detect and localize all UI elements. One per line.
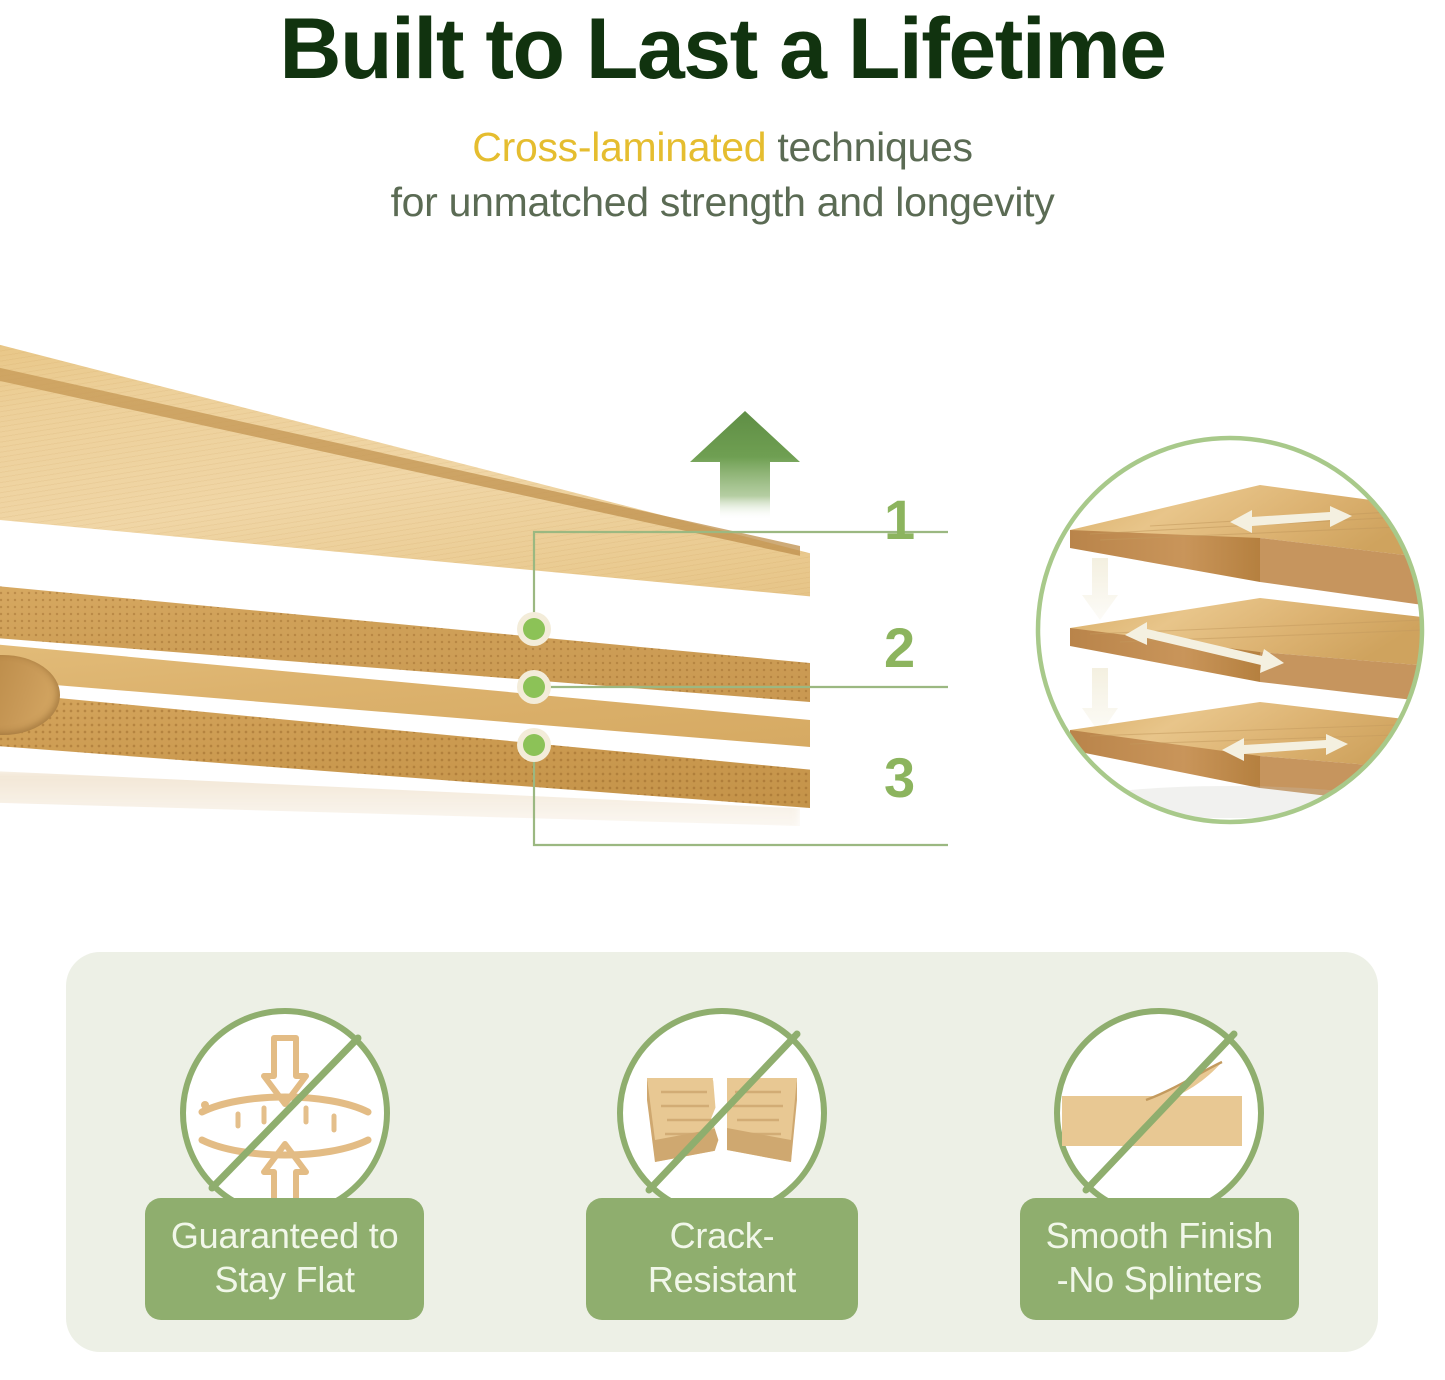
cross-laminated-inset (1030, 430, 1430, 830)
header: Built to Last a Lifetime Cross-laminated… (0, 0, 1445, 229)
subtitle-line-1: Cross-laminated techniques (0, 120, 1445, 175)
no-warping-icon (172, 1000, 398, 1226)
layer-marker-dot-1 (517, 612, 551, 646)
subtitle-line-2: for unmatched strength and longevity (0, 175, 1445, 230)
triple-layer-section: 1 2 3 (0, 300, 1445, 940)
no-splinters-icon (1046, 1000, 1272, 1226)
callout-number-3: 3 (884, 750, 915, 806)
feature-row: Guaranteed to Stay Flat (66, 952, 1378, 1352)
callout-number-1: 1 (884, 492, 915, 548)
subtitle-highlight: Cross-laminated (472, 124, 766, 170)
feature-smooth-finish: Smooth Finish -No Splinters (979, 1000, 1339, 1320)
up-arrow-icon (686, 408, 804, 520)
subtitle-rest: techniques (766, 124, 972, 170)
page-title: Built to Last a Lifetime (0, 0, 1445, 94)
feature-label-crack-resistant: Crack- Resistant (586, 1198, 858, 1320)
callout-number-2: 2 (884, 620, 915, 676)
feature-panel: Guaranteed to Stay Flat (66, 952, 1378, 1352)
down-arrow-icon-1 (1082, 558, 1118, 620)
layer-slab-middle (1070, 598, 1430, 702)
layer-marker-dot-3 (517, 728, 551, 762)
subtitle: Cross-laminated techniques for unmatched… (0, 120, 1445, 229)
feature-label-guaranteed-flat: Guaranteed to Stay Flat (145, 1198, 425, 1320)
feature-guaranteed-flat: Guaranteed to Stay Flat (105, 1000, 465, 1320)
inset-layers-group (1070, 485, 1430, 818)
feature-crack-resistant: Crack- Resistant (542, 1000, 902, 1320)
no-cracking-icon (609, 1000, 835, 1226)
layer-marker-dot-2 (517, 670, 551, 704)
feature-label-smooth-finish: Smooth Finish -No Splinters (1020, 1198, 1300, 1320)
